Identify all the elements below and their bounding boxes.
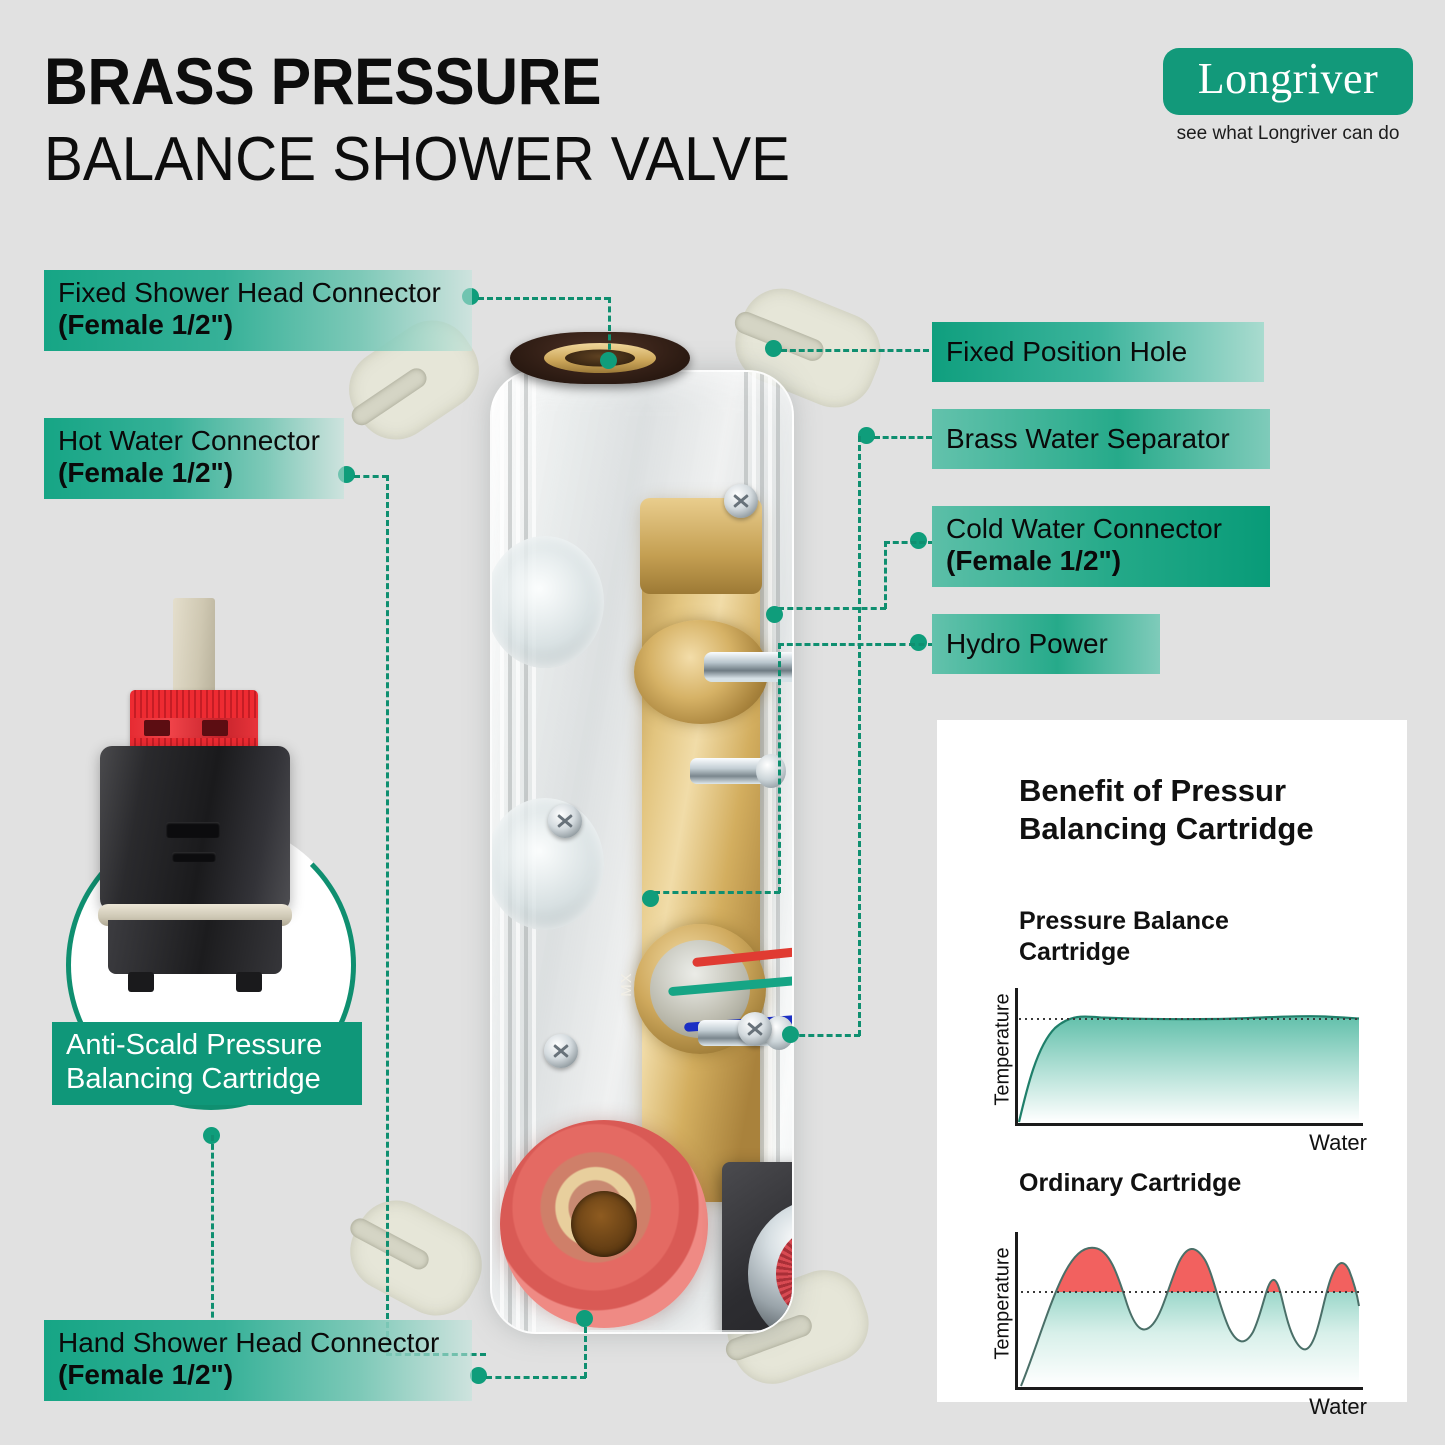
- callout-brass-water-separator[interactable]: Brass Water Separator: [932, 409, 1270, 469]
- callout-line-2: (Female 1/2"): [58, 457, 330, 489]
- chart-2-y-axis: [1015, 1232, 1018, 1390]
- leader-line-brass-separator-v: [858, 436, 861, 1036]
- base-tab-right: [236, 972, 262, 992]
- chart-1-svg: [1015, 988, 1363, 1126]
- housing-screw-right: [738, 1012, 772, 1046]
- bracket-slot: [732, 309, 827, 365]
- leader-line-hot-water-v: [386, 475, 389, 1355]
- chart-2-ordinary-cartridge: Temperature Water: [1015, 1232, 1363, 1390]
- page-title: BRASS PRESSURE BALANCE SHOWER VALVE: [44, 48, 838, 195]
- callout-line-1: Fixed Shower Head Connector: [58, 277, 458, 309]
- chart-1-pressure-balance-cartridge: Temperature Water: [1015, 988, 1363, 1126]
- pressure-balance-cartridge-module: [722, 1162, 794, 1334]
- anchor-dot-hand-shower: [576, 1310, 593, 1327]
- leader-line-cold-water-h: [884, 541, 934, 544]
- chart-1-title: Pressure Balance Cartridge: [1019, 906, 1319, 967]
- brand-logo: Longriver see what Longriver can do: [1163, 48, 1413, 145]
- cold-water-port-middle: [490, 798, 604, 930]
- cartridge-red-ring: [776, 1226, 794, 1322]
- leader-line-hot-water-h: [354, 475, 388, 478]
- callout-cold-water-connector[interactable]: Cold Water Connector (Female 1/2"): [932, 506, 1270, 587]
- callout-line-1: Anti-Scald Pressure: [66, 1029, 348, 1063]
- leader-line-hand-shower-v: [584, 1318, 587, 1378]
- callout-line-2: (Female 1/2"): [58, 1359, 458, 1391]
- leader-line-fixed-shower-head-v: [608, 297, 611, 359]
- chart-2-svg: [1015, 1232, 1363, 1390]
- leader-line-hydro-power-h: [890, 643, 934, 646]
- anchor-dot-cold-water: [766, 606, 783, 623]
- base-tab-left: [128, 972, 154, 992]
- callout-anti-scald-cartridge[interactable]: Anti-Scald Pressure Balancing Cartridge: [52, 1022, 362, 1105]
- callout-hydro-power[interactable]: Hydro Power: [932, 614, 1160, 674]
- logo-tagline: see what Longriver can do: [1163, 123, 1413, 145]
- nipple-cap: [756, 754, 786, 788]
- callout-hot-water-connector[interactable]: Hot Water Connector (Female 1/2"): [44, 418, 344, 499]
- cartridge-base: [108, 920, 282, 974]
- chart-1-area: [1019, 1016, 1359, 1122]
- leader-line-hydro-power-h2: [778, 643, 890, 646]
- callout-line-1: Cold Water Connector: [946, 513, 1256, 545]
- mounting-bracket-bottom-left: [336, 1186, 496, 1329]
- brass-water-separator-body: [642, 502, 760, 1202]
- callout-line-1: Fixed Position Hole: [946, 336, 1250, 368]
- leader-line-cold-water-h2: [778, 607, 886, 610]
- callout-fixed-position-hole[interactable]: Fixed Position Hole: [932, 322, 1264, 382]
- benefit-panel: Benefit of Pressur Balancing Cartridge P…: [937, 720, 1407, 1402]
- collar-notch-left: [144, 720, 170, 736]
- callout-line-2: (Female 1/2"): [58, 309, 458, 341]
- leader-line-brass-separator-h2: [790, 1034, 860, 1037]
- callout-line-1: Brass Water Separator: [946, 423, 1256, 455]
- housing-screw-mid: [544, 1034, 578, 1068]
- cartridge-chrome-face: [748, 1198, 794, 1334]
- cartridge-red-collar: [130, 690, 258, 752]
- chart-2-x-axis-label: Water: [1309, 1394, 1367, 1420]
- housing-screw-top: [724, 484, 758, 518]
- leader-line-hydro-power-h3: [654, 891, 780, 894]
- hot-water-connector-rings: [500, 1120, 708, 1328]
- cartridge-port-slot-upper: [166, 822, 220, 838]
- anti-scald-cartridge-illustration: [60, 586, 360, 1046]
- bracket-slot: [348, 364, 430, 429]
- logo-wordmark: Longriver: [1163, 54, 1413, 105]
- title-line-2: BALANCE SHOWER VALVE: [44, 125, 790, 194]
- bracket-slot: [347, 1215, 432, 1273]
- cold-water-port-upper: [490, 536, 604, 668]
- benefit-panel-title: Benefit of Pressur Balancing Cartridge: [1019, 772, 1389, 848]
- hydro-power-nipple: [690, 758, 776, 784]
- chart-2-x-axis: [1015, 1387, 1363, 1390]
- cartridge-marking-text: MX: [618, 972, 635, 997]
- callout-hand-shower-head-connector[interactable]: Hand Shower Head Connector (Female 1/2"): [44, 1320, 472, 1401]
- anchor-dot-top-port: [600, 352, 617, 369]
- leader-line-fixed-position-hole: [781, 349, 929, 352]
- housing-screw-mid-left: [548, 804, 582, 838]
- callout-line-1: Hydro Power: [946, 628, 1146, 660]
- callout-line-1: Hand Shower Head Connector: [58, 1327, 458, 1359]
- leader-line-fixed-shower-head-h: [478, 297, 610, 300]
- title-line-1: BRASS PRESSURE: [44, 48, 774, 115]
- cartridge-stem: [173, 598, 215, 698]
- chart-2-title: Ordinary Cartridge: [1019, 1168, 1339, 1199]
- leader-dot-fixed-position-hole: [765, 340, 782, 357]
- anchor-dot-brass-separator: [782, 1026, 799, 1043]
- collar-notch-right: [202, 720, 228, 736]
- chart-1-y-axis-label: Temperature: [992, 990, 1015, 1110]
- callout-line-2: Balancing Cartridge: [66, 1063, 348, 1097]
- chart-2-y-axis-label: Temperature: [992, 1244, 1015, 1364]
- leader-line-brass-separator-h: [874, 436, 932, 439]
- leader-line-hand-shower-h: [486, 1376, 586, 1379]
- transparent-valve-housing: MX: [490, 370, 794, 1334]
- leader-line-cold-water-v: [884, 541, 887, 609]
- infographic-canvas: BRASS PRESSURE BALANCE SHOWER VALVE Long…: [0, 0, 1445, 1445]
- chart-1-x-axis: [1015, 1123, 1363, 1126]
- chart-1-y-axis: [1015, 988, 1018, 1126]
- cartridge-black-body: [100, 746, 290, 911]
- chart-1-x-axis-label: Water: [1309, 1130, 1367, 1156]
- valve-assembly-illustration: MX: [398, 292, 908, 1374]
- cartridge-port-slot-lower: [172, 852, 216, 862]
- callout-line-1: Hot Water Connector: [58, 425, 330, 457]
- logo-pill: Longriver: [1163, 48, 1413, 115]
- hot-water-bore: [571, 1191, 637, 1257]
- leader-dot-hand-shower: [470, 1367, 487, 1384]
- anchor-dot-hydro-power: [642, 890, 659, 907]
- leader-line-hydro-power-v: [778, 643, 781, 893]
- callout-fixed-shower-head-connector[interactable]: Fixed Shower Head Connector (Female 1/2"…: [44, 270, 472, 351]
- callout-line-2: (Female 1/2"): [946, 545, 1256, 577]
